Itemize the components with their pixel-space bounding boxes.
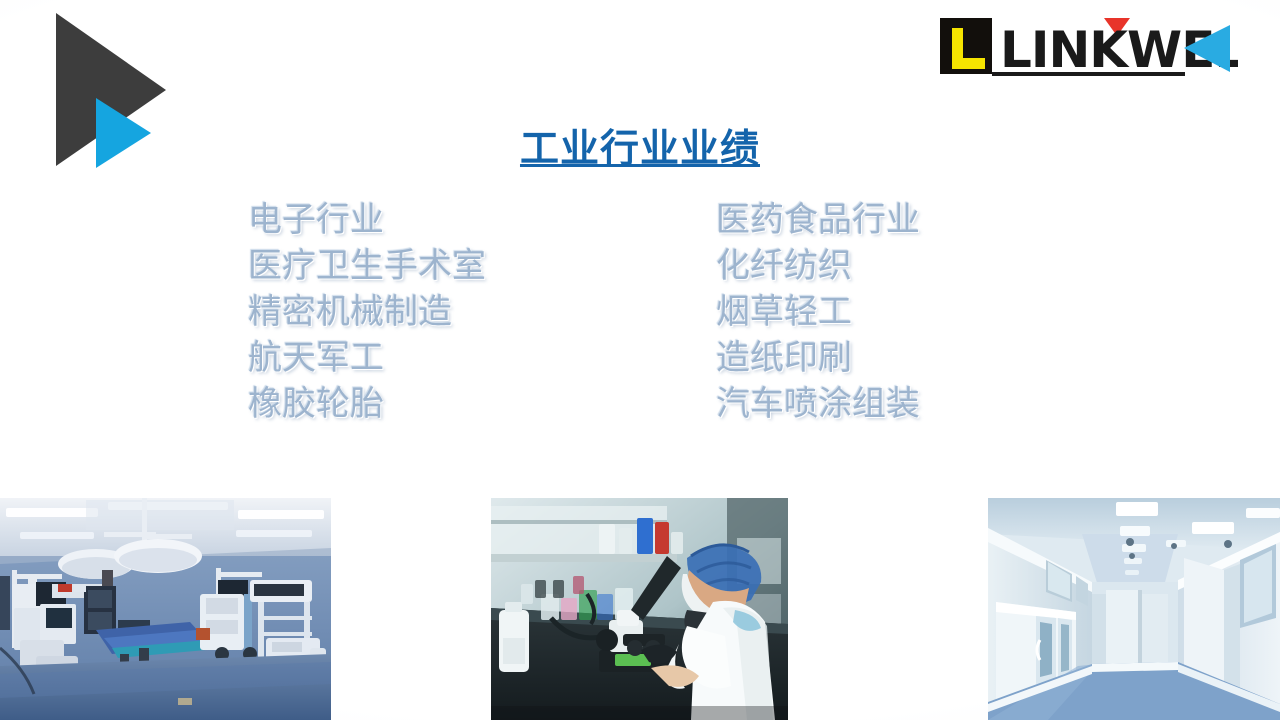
photo-operating-room xyxy=(0,498,331,720)
slide-canvas: LINKWELL 工业行业业绩 电子行业 医疗卫生手术室 精密机械制造 航天军工… xyxy=(0,0,1280,720)
list-item: 电子行业 xyxy=(248,197,486,243)
industry-list: 电子行业 医疗卫生手术室 精密机械制造 航天军工 橡胶轮胎 医药食品行业 化纤纺… xyxy=(0,197,1280,437)
photo-laboratory-microscope xyxy=(491,498,788,720)
list-item: 烟草轻工 xyxy=(716,289,920,335)
list-item: 化纤纺织 xyxy=(716,243,920,289)
list-item: 航天军工 xyxy=(248,335,486,381)
list-item: 造纸印刷 xyxy=(716,335,920,381)
list-item: 医药食品行业 xyxy=(716,197,920,243)
photo-cleanroom-corridor xyxy=(988,498,1280,720)
page-title: 工业行业业绩 xyxy=(0,118,1280,174)
list-item: 精密机械制造 xyxy=(248,289,486,335)
logo-underline xyxy=(992,72,1185,76)
list-item: 橡胶轮胎 xyxy=(248,381,486,427)
brand-logo: LINKWELL xyxy=(938,12,1238,84)
list-item: 汽车喷涂组装 xyxy=(716,381,920,427)
industry-column-right: 医药食品行业 化纤纺织 烟草轻工 造纸印刷 汽车喷涂组装 xyxy=(716,197,920,427)
industry-column-left: 电子行业 医疗卫生手术室 精密机械制造 航天军工 橡胶轮胎 xyxy=(248,197,486,427)
page-title-text: 工业行业业绩 xyxy=(520,118,760,174)
list-item: 医疗卫生手术室 xyxy=(248,243,486,289)
